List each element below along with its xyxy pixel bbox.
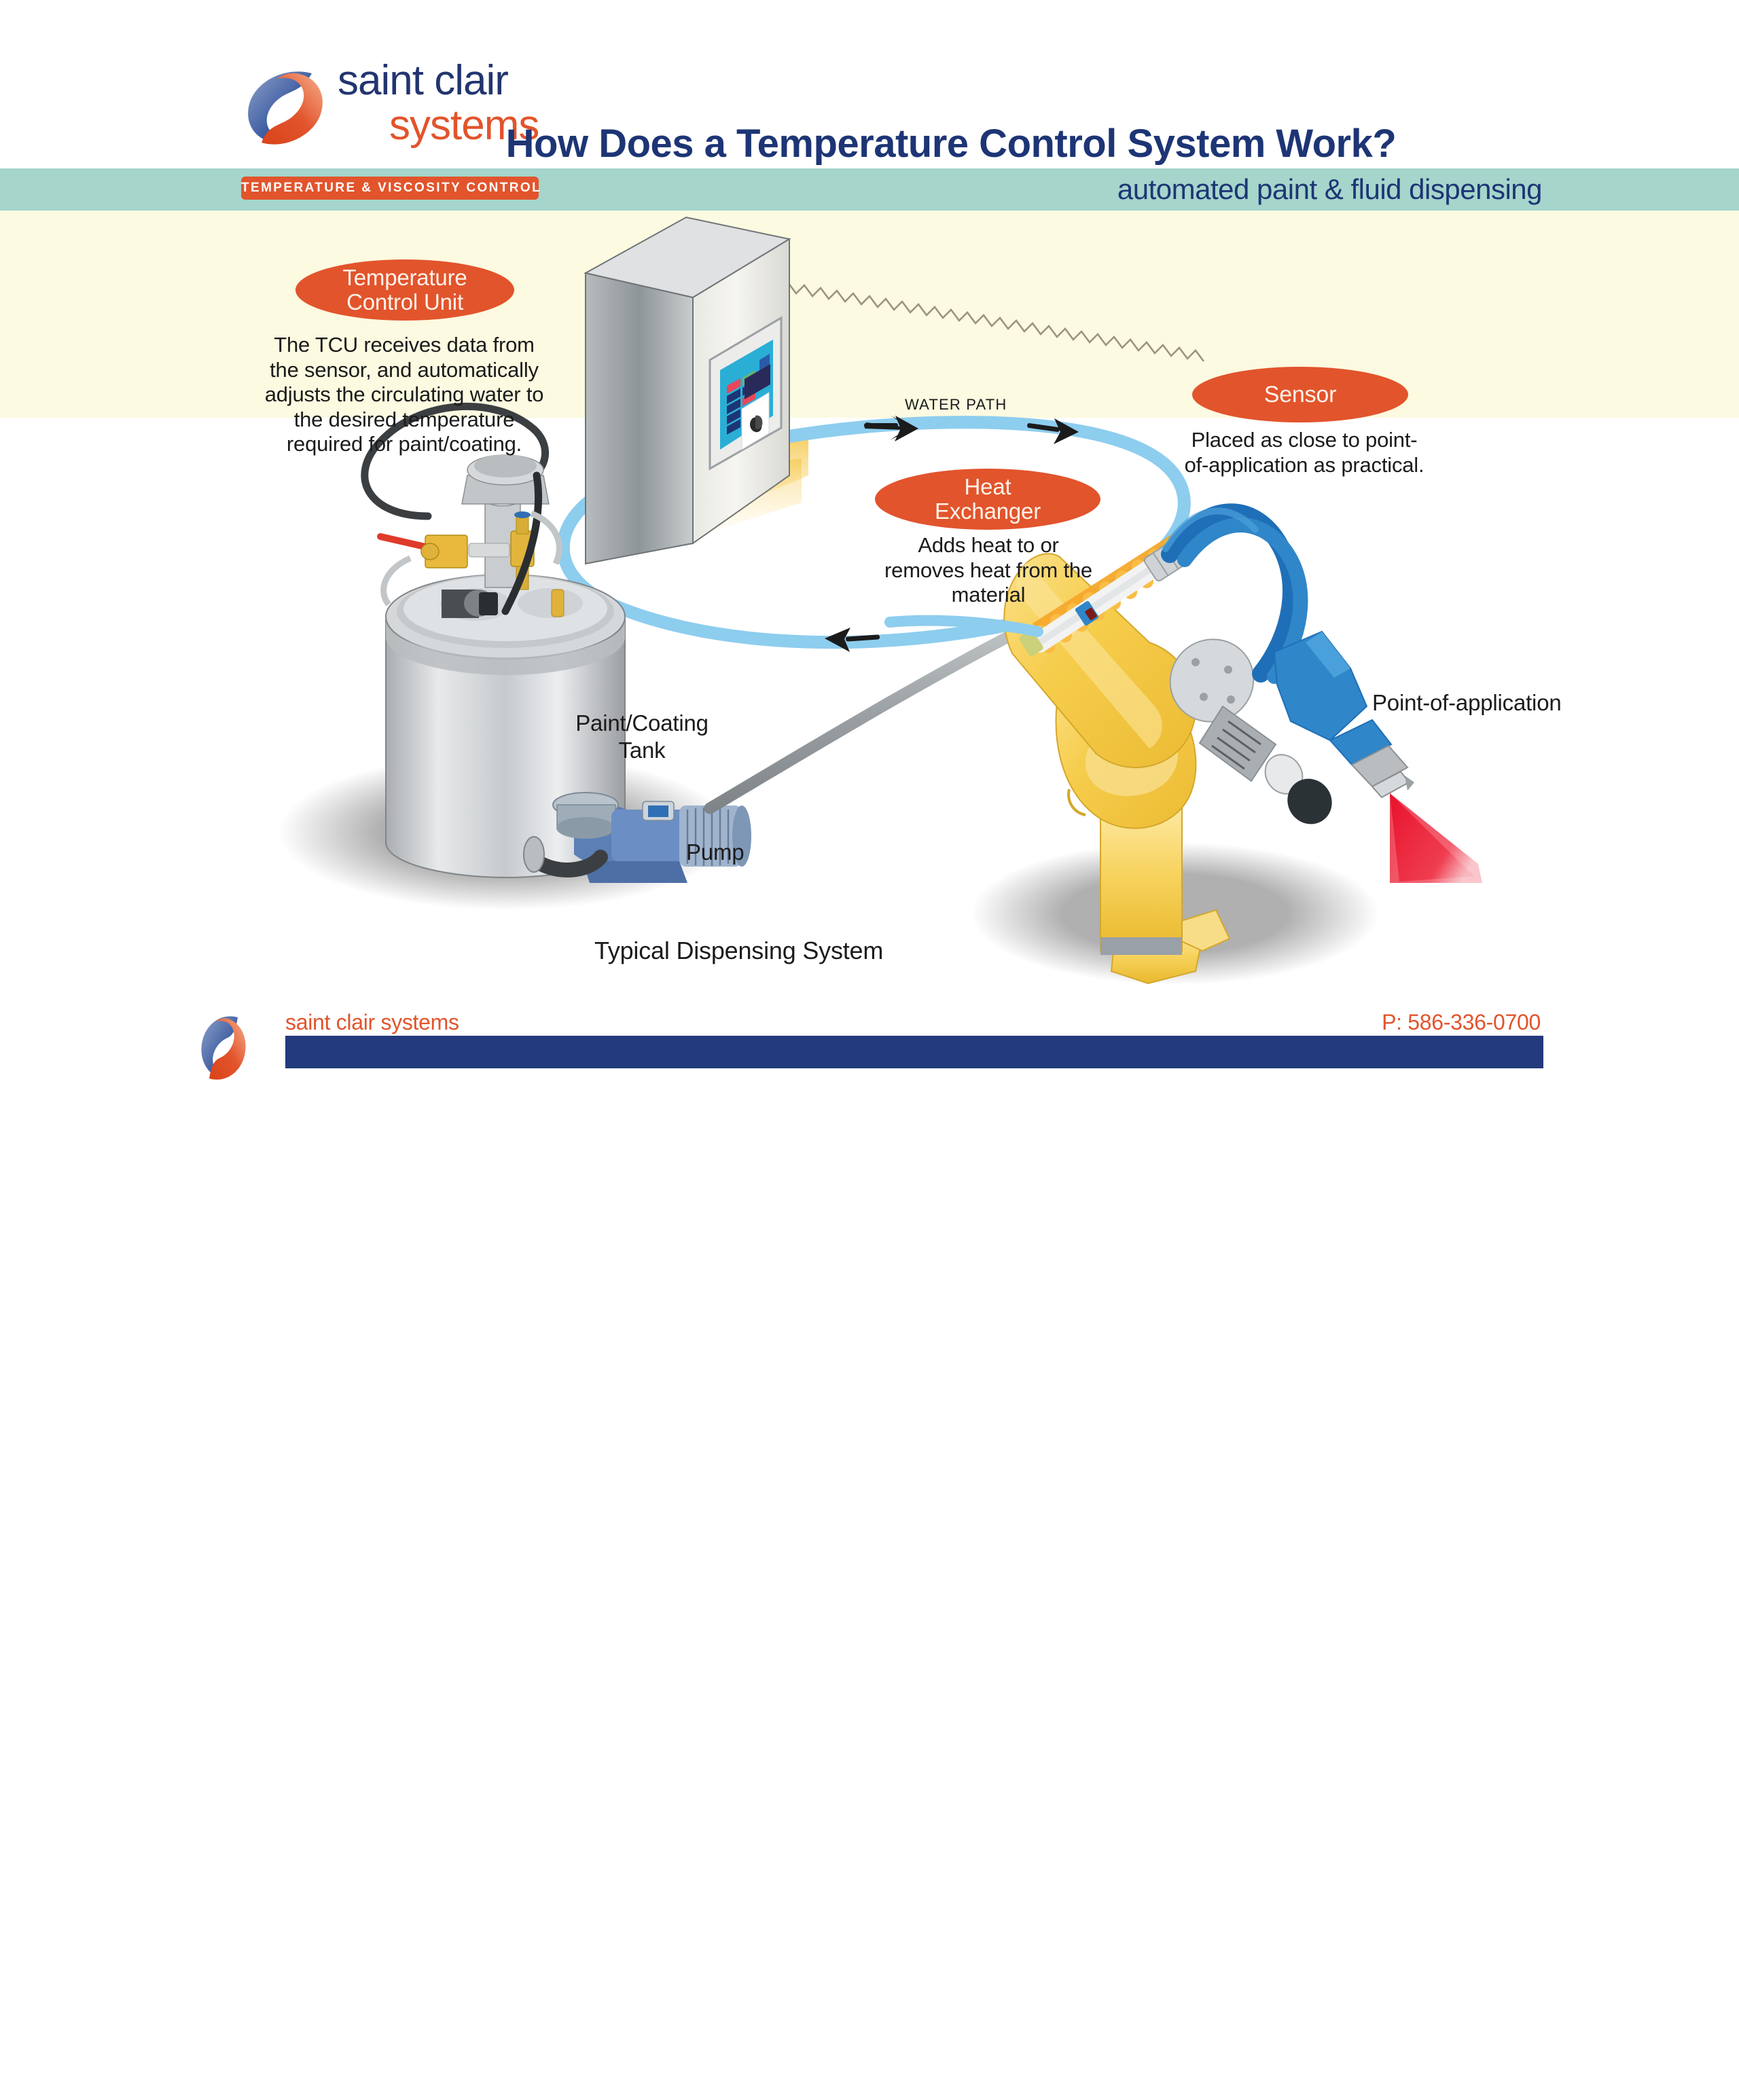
sensor-cable-zigzag xyxy=(780,283,1204,361)
callout-pill-temperature-control-unit: Temperature Control Unit xyxy=(295,259,514,321)
label-typical-dispensing-system: Typical Dispensing System xyxy=(594,936,883,965)
footer-website-link[interactable]: Viscosity.com xyxy=(583,2077,703,2100)
pill-label-line-2: Control Unit xyxy=(342,290,467,314)
label-water-path: WATER PATH xyxy=(905,396,1007,414)
footer-swoosh-logo-icon xyxy=(198,1011,247,1085)
callout-body-heat-exchanger: Adds heat to or removes heat from the ma… xyxy=(883,533,1094,608)
label-tank-line-2: Tank xyxy=(564,737,720,764)
callout-body-sensor: Placed as close to point-of-application … xyxy=(1182,428,1427,477)
footer-phone: P: 586-336-0700 xyxy=(1382,1010,1541,1035)
label-tank-line-1: Paint/Coating xyxy=(564,710,720,737)
material-hose xyxy=(710,621,1038,808)
label-point-of-application: Point-of-application xyxy=(1372,689,1562,717)
pill-label-line-2: Exchanger xyxy=(935,499,1041,524)
callout-pill-sensor: Sensor xyxy=(1192,367,1408,422)
pill-label-line-1: Heat xyxy=(935,475,1041,499)
spray-cone-wide xyxy=(1390,793,1482,883)
label-pump: Pump xyxy=(686,839,744,866)
label-paint-coating-tank: Paint/Coating Tank xyxy=(564,710,720,763)
pill-label-sensor: Sensor xyxy=(1264,382,1337,408)
pill-label-line-1: Temperature xyxy=(342,266,467,290)
footer-bar: Viscosity.com Harness the Science of Vis… xyxy=(285,1036,1543,1068)
callout-body-temperature-control-unit: The TCU receives data from the sensor, a… xyxy=(258,333,550,457)
footer-brand: saint clair systems xyxy=(285,1010,459,1035)
callout-pill-heat-exchanger: Heat Exchanger xyxy=(875,469,1100,530)
footer-slogan: Harness the Science of Viscosity xyxy=(1287,2080,1530,2099)
